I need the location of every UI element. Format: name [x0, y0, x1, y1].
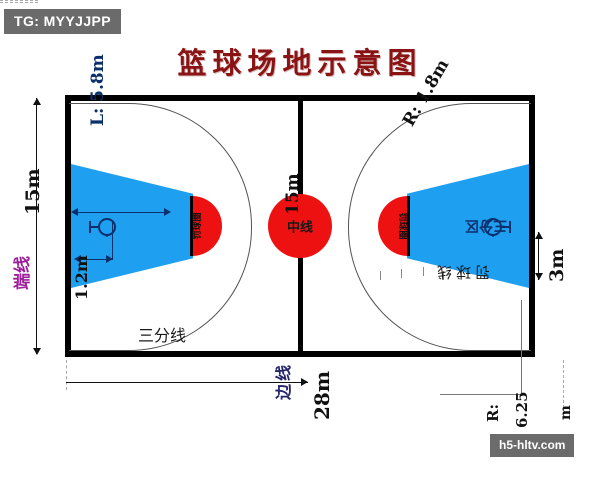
- court-interior: 中线 罚球圈 罚球圈 三分区: [71, 101, 529, 351]
- label-lane-depth: 3m: [546, 249, 568, 282]
- hoop-icon-left: [89, 217, 129, 242]
- dim-arrow-left-key: [71, 208, 78, 216]
- label-radius-value: 6.25: [513, 391, 531, 428]
- label-court-height: 15m: [22, 168, 44, 215]
- dim-arrow-up-lane-depth: [535, 232, 543, 239]
- dim-line-key-width: [78, 212, 166, 213]
- mid-line-bottom-segment: [298, 261, 303, 351]
- label-three-point-line: 三分线: [138, 322, 186, 346]
- radius-leader-dashed: [563, 360, 565, 408]
- label-court-length: 28m: [310, 371, 334, 420]
- tg-watermark: TG: MYYJJPP: [4, 9, 121, 34]
- label-baseline: 端线: [8, 256, 33, 290]
- dim-line-court-height: [36, 98, 37, 354]
- label-sideline: 边线: [270, 362, 294, 400]
- label-key-slope: L: 5.8m: [88, 54, 108, 126]
- center-circle-label: 中线: [287, 217, 313, 236]
- dim-arrow-right-key: [164, 208, 171, 216]
- lane-mark: [380, 271, 381, 280]
- diagram-canvas: TG: MYYJJPP 篮球场地示意图 15m 端线 中线 罚球圈 罚球圈: [0, 0, 600, 480]
- radius-leader-vertical: [521, 300, 522, 395]
- label-midline-length: 15m: [283, 173, 303, 215]
- hoop-icon-right: [471, 217, 511, 242]
- label-lane-width: 1.2m: [72, 255, 91, 300]
- lane-mark: [423, 267, 424, 276]
- radius-leader-horizontal: [440, 394, 522, 395]
- dim-arrow-right-lane: [106, 255, 113, 263]
- free-throw-circle-label-left: 罚球圈: [190, 212, 203, 239]
- dim-arrow-down-lane-depth: [535, 273, 543, 280]
- dim-tick-left-length: [66, 360, 68, 390]
- dim-tick-bottom-left: [0, 2, 38, 4]
- label-radius-unit: m: [558, 405, 574, 420]
- dim-arrow-down-height: [33, 348, 41, 355]
- label-free-throw-line-right: 罚球线: [433, 262, 490, 283]
- dim-arrow-right-length: [301, 378, 308, 386]
- free-throw-circle-label-right: 罚球圈: [397, 212, 410, 239]
- lane-mark: [401, 269, 402, 278]
- site-watermark: h5-hltv.com: [490, 434, 574, 457]
- label-radius-prefix: R:: [484, 404, 502, 422]
- basketball-court: 中线 罚球圈 罚球圈 三分区: [65, 95, 535, 357]
- dim-arrow-up-height: [33, 98, 41, 105]
